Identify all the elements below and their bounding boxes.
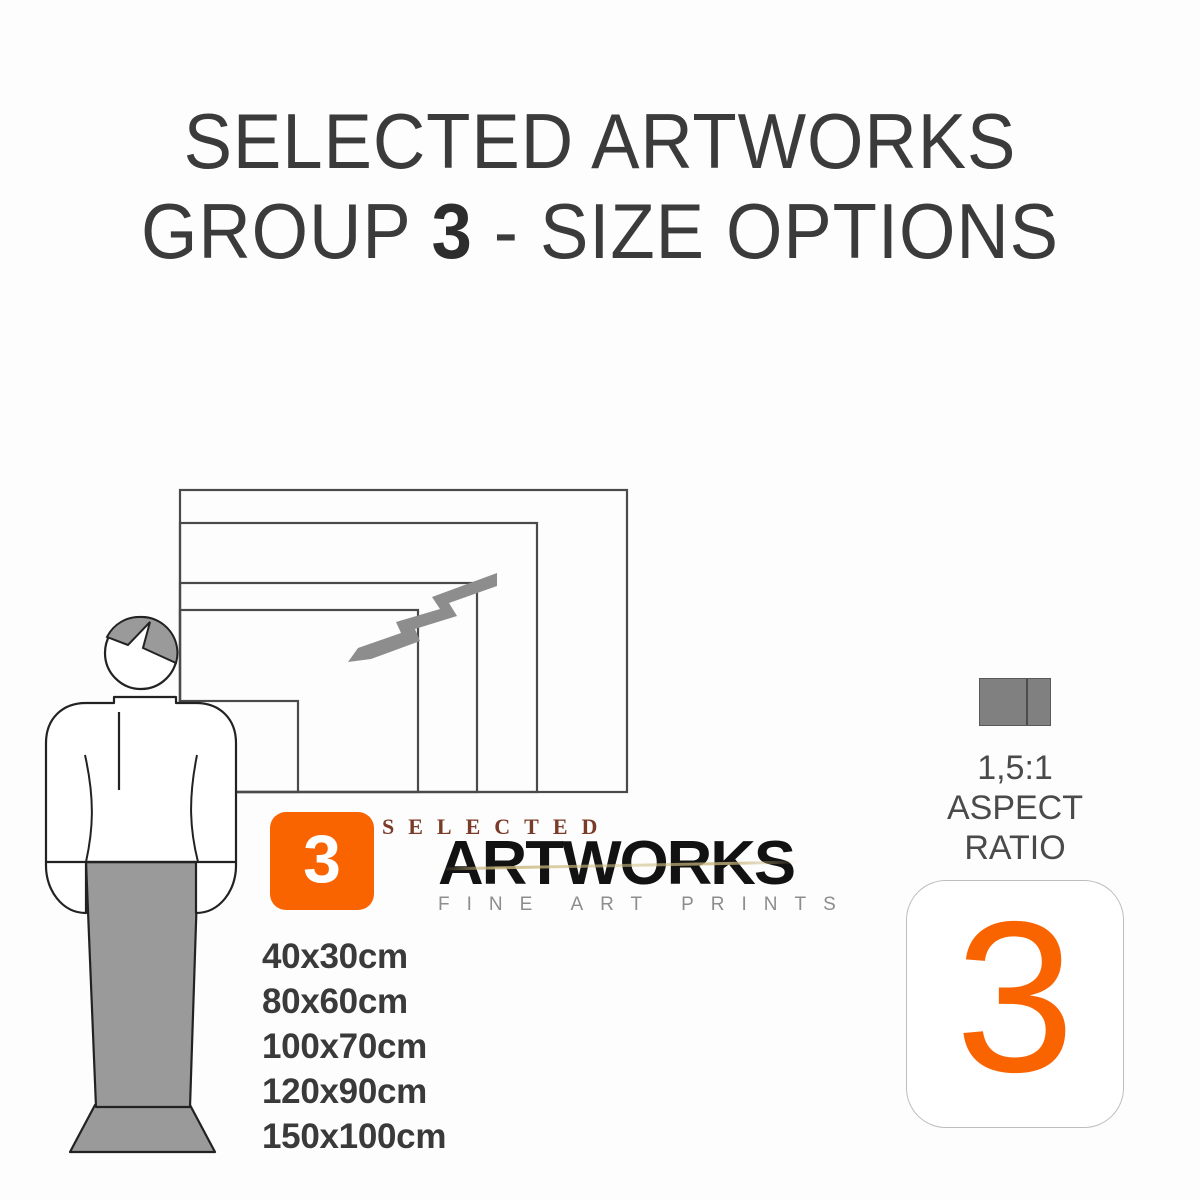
size-option: 40x30cm	[262, 934, 446, 979]
aspect-ratio-icon-divider	[1026, 679, 1028, 725]
brand-logo: 3 SELECTED ARTWORKS FINE ART PRINTS	[270, 812, 830, 924]
logo-wordmark: SELECTED ARTWORKS FINE ART PRINTS	[382, 812, 830, 924]
size-option: 100x70cm	[262, 1024, 446, 1069]
logo-artworks-text: ARTWORKS	[438, 828, 794, 899]
human-scale-figure	[46, 617, 236, 1152]
aspect-ratio-block: 1,5:1 ASPECT RATIO	[900, 678, 1130, 868]
aspect-ratio-label-1: ASPECT	[900, 788, 1130, 828]
size-option: 150x100cm	[262, 1114, 446, 1159]
figure-shoes	[70, 1105, 215, 1152]
aspect-ratio-label-2: RATIO	[900, 828, 1130, 868]
group-number-card-value: 3	[955, 889, 1075, 1104]
logo-tagline: FINE ART PRINTS	[438, 894, 853, 916]
size-option: 80x60cm	[262, 979, 446, 1024]
logo-group-badge: 3	[270, 812, 374, 910]
logo-group-badge-number: 3	[303, 825, 341, 893]
aspect-ratio-icon	[979, 678, 1051, 726]
size-options-list: 40x30cm 80x60cm 100x70cm 120x90cm 150x10…	[262, 934, 446, 1159]
aspect-ratio-value: 1,5:1	[900, 748, 1130, 788]
figure-trousers	[86, 862, 198, 1107]
group-number-card: 3	[906, 880, 1124, 1128]
poster-canvas: SELECTED ARTWORKS GROUP 3 - SIZE OPTIONS	[0, 0, 1200, 1200]
size-option: 120x90cm	[262, 1069, 446, 1114]
size-growth-arrow	[348, 573, 497, 662]
